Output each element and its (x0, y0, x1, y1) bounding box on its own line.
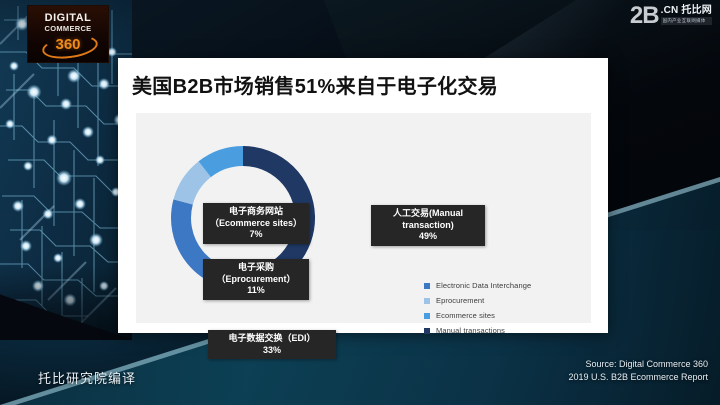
callout-eprocurement-value: 11% (208, 285, 304, 297)
legend-swatch-icon (424, 298, 430, 304)
logo-360-mark: 360 (39, 34, 97, 56)
callout-manual-cn: 人工交易(Manual (376, 208, 480, 220)
legend-item: Manual transactions (424, 326, 531, 335)
callout-eprocurement-cn: 电子采购 (208, 262, 304, 274)
callout-eprocurement-en: （Eprocurement） (208, 274, 304, 286)
legend-swatch-icon (424, 283, 430, 289)
legend-swatch-icon (424, 313, 430, 319)
source-line-2: 2019 U.S. B2B Ecommerce Report (568, 371, 708, 384)
legend-item: Ecommerce sites (424, 311, 531, 320)
callout-ecommerce-value: 7% (208, 229, 304, 241)
chart-panel: 电子商务网站 （Ecommerce sites） 7% 电子采购 （Eprocu… (136, 113, 591, 323)
callout-ecommerce-cn: 电子商务网站 (208, 206, 304, 218)
legend-label: Ecommerce sites (436, 311, 495, 320)
legend-label: Electronic Data Interchange (436, 281, 531, 290)
callout-edi: 电子数据交换（EDI） 33% (208, 330, 336, 359)
legend-item: Electronic Data Interchange (424, 281, 531, 290)
logo-tagline: 国内产业互联网媒体 (661, 17, 712, 25)
legend-label: Manual transactions (436, 326, 505, 335)
digital-commerce-360-logo: DIGITAL COMMERCE 360 (27, 5, 109, 63)
slide-content-card: 美国B2B市场销售51%来自于电子化交易 (118, 58, 608, 333)
callout-eprocurement: 电子采购 （Eprocurement） 11% (203, 259, 309, 300)
callout-manual-value: 49% (376, 231, 480, 243)
logo-2b-mark: 2B (630, 4, 659, 28)
callout-ecommerce-en: （Ecommerce sites） (208, 218, 304, 230)
callout-edi-cn: 电子数据交换（EDI） (213, 333, 331, 345)
callout-ecommerce-sites: 电子商务网站 （Ecommerce sites） 7% (203, 203, 309, 244)
legend-swatch-icon (424, 328, 430, 334)
legend-item: Eprocurement (424, 296, 531, 305)
logo-line-digital: DIGITAL (45, 13, 92, 24)
callout-manual-transaction: 人工交易(Manual transaction) 49% (371, 205, 485, 246)
logo-2b-text-group: .CN 托比网 国内产业互联网媒体 (661, 5, 712, 25)
logo-line-commerce: COMMERCE (45, 24, 92, 34)
footer-credit: 托比研究院编译 (38, 368, 136, 387)
page-title: 美国B2B市场销售51%来自于电子化交易 (132, 70, 598, 99)
logo-cn-text: .CN 托比网 (661, 5, 712, 16)
callout-edi-value: 33% (213, 345, 331, 357)
callout-manual-en: transaction) (376, 220, 480, 232)
source-line-1: Source: Digital Commerce 360 (568, 358, 708, 371)
toby-2b-cn-logo: 2B .CN 托比网 国内产业互联网媒体 (630, 4, 712, 28)
circular-arrow-icon (41, 32, 100, 62)
chart-legend: Electronic Data Interchange Eprocurement… (424, 281, 531, 341)
legend-label: Eprocurement (436, 296, 484, 305)
source-attribution: Source: Digital Commerce 360 2019 U.S. B… (568, 358, 708, 383)
presentation-slide: DIGITAL COMMERCE 360 2B .CN 托比网 国内产业互联网媒… (0, 0, 720, 405)
